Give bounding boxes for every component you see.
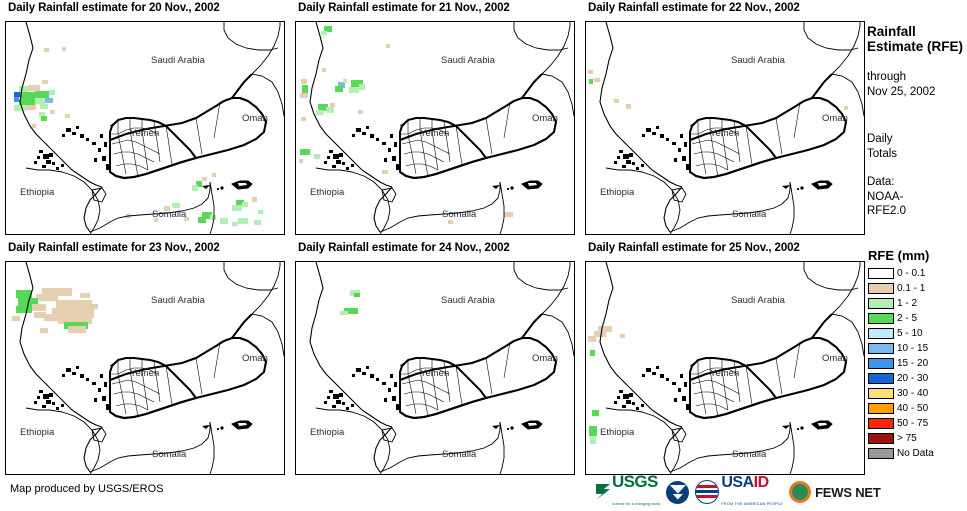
map-panel-24-nov[interactable]: Daily Rainfall estimate for 24 Nov., 200… [290,240,580,480]
legend-row[interactable]: No Data [866,446,967,461]
country-label-somalia: Somalia [732,449,766,460]
legend-swatch [868,328,894,339]
country-label-oman: Oman [532,353,558,364]
legend-label: 10 - 15 [897,343,928,354]
legend-row[interactable]: 50 - 75 [866,416,967,431]
rfe-data-source-block: Data: NOAA- RFE2.0 [867,175,967,219]
rfe-data-source-2: RFE2.0 [867,204,967,219]
map-credit: Map produced by USGS/EROS [10,483,163,495]
panel-title: Daily Rainfall estimate for 21 Nov., 200… [298,2,510,14]
country-label-ethiopia: Ethiopia [310,187,344,198]
country-label-somalia: Somalia [732,209,766,220]
country-label-somalia: Somalia [152,449,186,460]
country-label-oman: Oman [242,113,268,124]
rfe-data-label: Data: [867,175,967,190]
country-label-saudi-arabia: Saudi Arabia [151,295,205,306]
country-label-yemen: Yemen [420,368,449,379]
country-label-yemen: Yemen [710,368,739,379]
map-panel-23-nov[interactable]: Daily Rainfall estimate for 23 Nov., 200… [0,240,290,480]
legend-label: No Data [897,448,934,459]
country-label-saudi-arabia: Saudi Arabia [441,55,495,66]
usaid-seal-icon [695,480,719,504]
map-frame[interactable]: Saudi Arabia Oman Yemen Ethiopia Somalia [5,21,285,235]
legend-label: 40 - 50 [897,403,928,414]
legend-row[interactable]: 15 - 20 [866,356,967,371]
legend-row[interactable]: 2 - 5 [866,311,967,326]
agency-logo-strip: USGS science for a changing world USAID … [596,477,881,507]
legend-swatch [868,388,894,399]
legend-row[interactable]: 30 - 40 [866,386,967,401]
country-label-saudi-arabia: Saudi Arabia [151,55,205,66]
noaa-logo[interactable] [666,481,689,504]
country-label-ethiopia: Ethiopia [600,187,634,198]
fews-net-logo-text: FEWS NET [815,485,881,500]
country-label-yemen: Yemen [420,128,449,139]
legend-swatch [868,418,894,429]
rfe-legend: RFE (mm) 0 - 0.10.1 - 11 - 22 - 55 - 101… [866,248,967,461]
map-panel-20-nov[interactable]: Daily Rainfall estimate for 20 Nov., 200… [0,0,290,240]
country-label-somalia: Somalia [442,209,476,220]
map-frame[interactable]: Saudi Arabia Oman Yemen Ethiopia Somalia [295,261,575,475]
country-label-ethiopia: Ethiopia [310,427,344,438]
panel-title: Daily Rainfall estimate for 20 Nov., 200… [8,2,220,14]
legend-row[interactable]: > 75 [866,431,967,446]
rainfall-cells [588,70,848,110]
legend-label: 20 - 30 [897,373,928,384]
legend-swatch [868,358,894,369]
usaid-logo-text: USAID [721,474,768,491]
country-label-saudi-arabia: Saudi Arabia [731,295,785,306]
rfe-data-source-1: NOAA- [867,190,967,205]
legend-swatch [868,313,894,324]
legend-swatch [868,448,894,459]
legend-swatch [868,373,894,384]
usaid-logo[interactable]: USAID FROM THE AMERICAN PEOPLE [695,474,783,510]
rfe-through-block: through Nov 25, 2002 [867,70,967,99]
legend-title: RFE (mm) [868,248,967,263]
rainfall-cells [340,290,360,315]
legend-label: 2 - 5 [897,313,917,324]
map-frame[interactable]: Saudi Arabia Oman Yemen Ethiopia Somalia [295,21,575,235]
panel-title: Daily Rainfall estimate for 24 Nov., 200… [298,242,510,254]
legend-row[interactable]: 20 - 30 [866,371,967,386]
legend-label: 5 - 10 [897,328,923,339]
country-label-saudi-arabia: Saudi Arabia [731,55,785,66]
rainfall-cells [12,288,98,333]
legend-swatch [868,343,894,354]
country-label-yemen: Yemen [130,368,159,379]
usaid-stripe-blue [696,490,718,493]
legend-label: 0 - 0.1 [897,268,925,279]
legend-rows: 0 - 0.10.1 - 11 - 22 - 55 - 1010 - 1515 … [866,266,967,461]
fews-net-logo[interactable]: FEWS NET [789,481,881,503]
legend-label: 0.1 - 1 [897,283,925,294]
country-label-ethiopia: Ethiopia [20,427,54,438]
country-label-somalia: Somalia [152,209,186,220]
rfe-through-label: through [867,70,967,85]
country-label-oman: Oman [242,353,268,364]
rfe-totals-line1: Daily [867,132,967,147]
country-label-oman: Oman [532,113,558,124]
rfe-totals-block: Daily Totals [867,132,967,161]
rfe-totals-line2: Totals [867,147,967,162]
usgs-logo[interactable]: USGS science for a changing world [596,474,660,510]
rfe-heading: Rainfall Estimate (RFE) [867,24,967,54]
legend-label: > 75 [897,433,917,444]
country-label-somalia: Somalia [442,449,476,460]
panel-title: Daily Rainfall estimate for 23 Nov., 200… [8,242,220,254]
legend-row[interactable]: 1 - 2 [866,296,967,311]
legend-swatch [868,268,894,279]
legend-swatch [868,298,894,309]
country-label-oman: Oman [822,353,848,364]
country-label-yemen: Yemen [710,128,739,139]
map-panel-25-nov[interactable]: Daily Rainfall estimate for 25 Nov., 200… [580,240,870,480]
map-panel-grid: Daily Rainfall estimate for 20 Nov., 200… [0,0,868,478]
legend-swatch [868,403,894,414]
legend-swatch [868,283,894,294]
usaid-stripe-red-bottom [696,495,718,498]
usaid-stripe-red-top [696,485,718,488]
map-panel-21-nov[interactable]: Daily Rainfall estimate for 21 Nov., 200… [290,0,580,240]
country-label-saudi-arabia: Saudi Arabia [441,295,495,306]
usgs-logo-tagline: science for a changing world [612,502,660,506]
rfe-through-date: Nov 25, 2002 [867,85,967,100]
map-frame[interactable]: Saudi Arabia Oman Yemen Ethiopia Somalia [5,261,285,475]
usgs-wave-icon [596,484,610,500]
legend-row[interactable]: 5 - 10 [866,326,967,341]
legend-row[interactable]: 0 - 0.1 [866,266,967,281]
country-label-ethiopia: Ethiopia [20,187,54,198]
map-panel-22-nov[interactable]: Daily Rainfall estimate for 22 Nov., 200… [580,0,870,240]
panel-title: Daily Rainfall estimate for 22 Nov., 200… [588,2,800,14]
legend-row[interactable]: 10 - 15 [866,341,967,356]
panel-title: Daily Rainfall estimate for 25 Nov., 200… [588,242,800,254]
usaid-logo-tagline: FROM THE AMERICAN PEOPLE [721,502,783,506]
map-frame[interactable]: Saudi Arabia Oman Yemen Ethiopia Somalia [585,21,865,235]
fews-globe-icon [789,481,811,503]
map-frame[interactable]: Saudi Arabia Oman Yemen Ethiopia Somalia [585,261,865,475]
country-label-oman: Oman [822,113,848,124]
legend-label: 15 - 20 [897,358,928,369]
usgs-logo-text: USGS [612,472,658,491]
legend-sidebar: Rainfall Estimate (RFE) through Nov 25, … [866,0,967,511]
country-label-yemen: Yemen [130,128,159,139]
legend-swatch [868,433,894,444]
legend-row[interactable]: 0.1 - 1 [866,281,967,296]
legend-label: 50 - 75 [897,418,928,429]
legend-row[interactable]: 40 - 50 [866,401,967,416]
legend-label: 1 - 2 [897,298,917,309]
country-label-ethiopia: Ethiopia [600,427,634,438]
legend-label: 30 - 40 [897,388,928,399]
